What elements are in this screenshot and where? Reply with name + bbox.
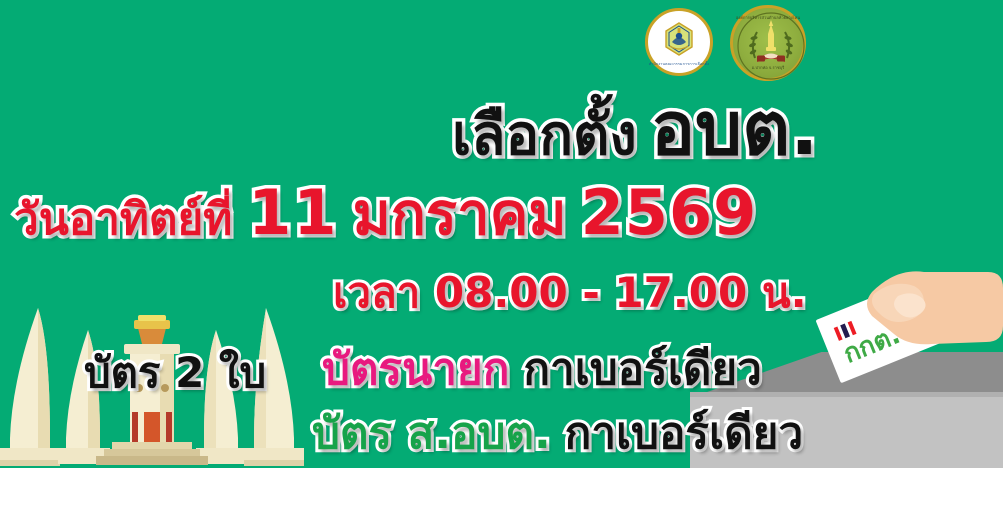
ballot-row-member: บัตร ส.อบต.กาเบอร์เดียว bbox=[312, 412, 803, 456]
headline-prefix: เลือกตั้ง bbox=[452, 103, 637, 168]
ballot-count-label: บัตร 2 ใบ bbox=[84, 352, 266, 394]
subdistrict-administrative-organization-emblem: องค์การบริหารส่วนตำบลห้วยยางโทน อ.ปากท่อ… bbox=[730, 5, 806, 81]
voting-hours: เวลา 08.00 - 17.00 น. bbox=[333, 272, 807, 314]
sao-emblem-ring-text-top: องค์การบริหารส่วนตำบลห้วยยางโทน bbox=[736, 14, 800, 21]
ballot-member-instruction: กาเบอร์เดียว bbox=[565, 408, 803, 459]
date-day: 11 bbox=[248, 176, 338, 249]
ballot-mayor-label: บัตรนายก bbox=[322, 344, 509, 395]
date-month: มกราคม bbox=[353, 180, 567, 248]
poster-base-strip bbox=[0, 468, 1003, 510]
ect-emblem-graphic bbox=[659, 20, 699, 60]
election-poster: สำนักงานคณะกรรมการการเลือกตั้ง bbox=[0, 0, 1003, 510]
election-date-line: วันอาทิตย์ที่11มกราคม2569 bbox=[14, 182, 757, 244]
date-prefix: วันอาทิตย์ที่ bbox=[14, 194, 232, 245]
ballot-mayor-instruction: กาเบอร์เดียว bbox=[523, 344, 761, 395]
ballot-row-mayor: บัตรนายกกาเบอร์เดียว bbox=[322, 348, 762, 392]
ballot-member-label: บัตร ส.อบต. bbox=[312, 408, 551, 459]
headline: เลือกตั้งอบต. bbox=[452, 92, 818, 166]
ect-emblem-ring-text: สำนักงานคณะกรรมการการเลือกตั้ง bbox=[649, 61, 709, 67]
sao-emblem-ring-text-bottom: อ.ปากท่อ จ.ราชบุรี bbox=[752, 64, 785, 71]
hand-dropping-ballot: กกต. bbox=[812, 252, 1003, 402]
headline-main: อบต. bbox=[651, 86, 819, 172]
date-year: 2569 bbox=[581, 176, 758, 249]
election-commission-of-thailand-emblem: สำนักงานคณะกรรมการการเลือกตั้ง bbox=[645, 8, 713, 76]
